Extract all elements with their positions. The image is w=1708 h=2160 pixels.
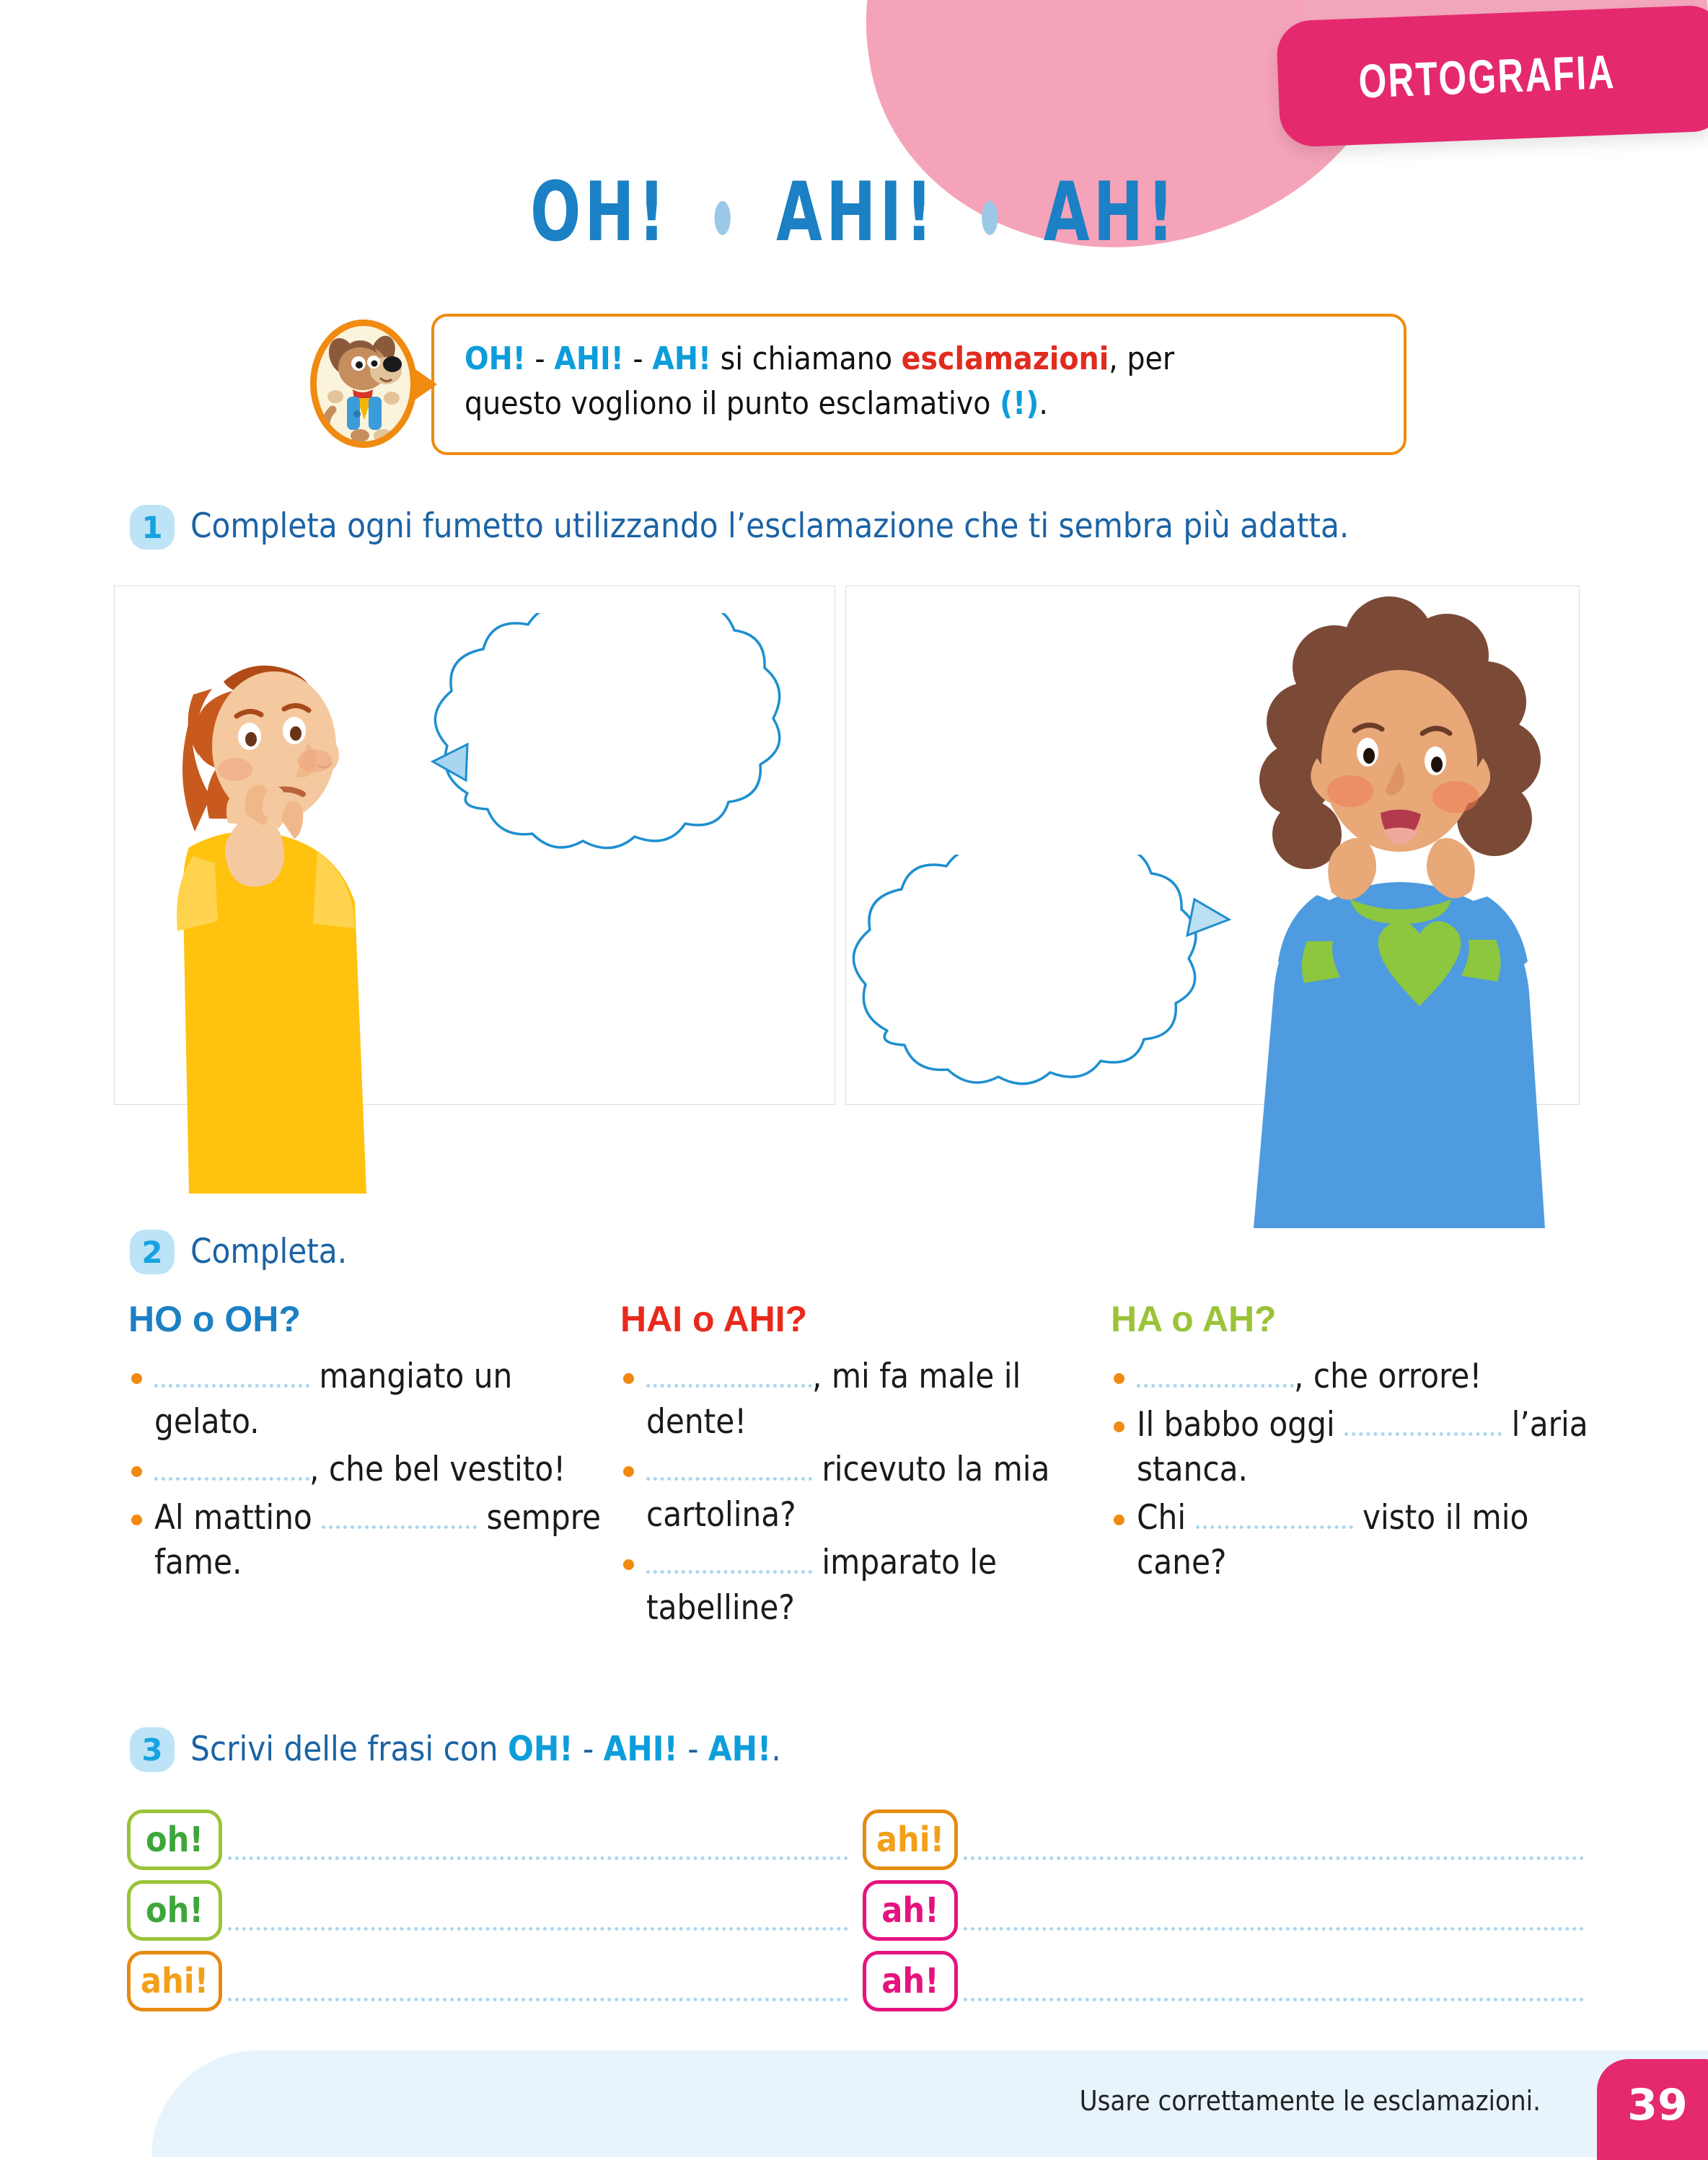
callout-text-1: si chiamano [711,340,902,377]
boy-thinking-illustration [101,602,411,1194]
exclamation-tag-ahi: ahi! [863,1809,958,1870]
instruction-sep-1: - [573,1729,604,1769]
completion-list: , mi fa male il dente! ricevuto la mia c… [620,1354,1096,1631]
writing-line[interactable] [964,1985,1584,2001]
writing-line[interactable] [964,1915,1584,1931]
list-item[interactable]: ricevuto la mia cartolina? [620,1447,1096,1538]
empty-thought-bubble-right[interactable] [837,855,1241,1143]
list-item[interactable]: Al mattino sempre fame. [128,1496,604,1586]
list-item[interactable]: , mi fa male il dente! [620,1354,1096,1445]
exercise-1-number-badge: 1 [130,505,175,550]
item-after: , che orrore! [1294,1357,1482,1396]
section-tab-label: ORTOGRAFIA [1357,45,1616,109]
completion-list: mangiato un gelato. , che bel vestito! A… [128,1354,604,1586]
callout-exclamation-mark: (!) [1000,385,1039,422]
exercise-2-number-badge: 2 [130,1230,175,1274]
item-before: Al mattino [154,1498,322,1538]
writing-row: ahi! [127,1941,848,2011]
exclamation-tag-oh: oh! [127,1880,222,1941]
exclamation-tag-ah: ah! [863,1880,958,1941]
list-item[interactable]: , che bel vestito! [128,1447,604,1493]
exercise-2-header: 2 Completa. [130,1230,779,1274]
title-part-oh: OH! [530,164,669,260]
instruction-end: . [771,1729,780,1769]
writing-line[interactable] [228,1985,848,2001]
list-item[interactable]: imparato le tabelline? [620,1540,1096,1631]
column-title-hai-ahi: HAI o AHI? [620,1298,1096,1340]
column-title-ho-oh: HO o OH? [128,1298,604,1340]
blank-input[interactable] [154,1363,309,1388]
item-after: , che bel vestito! [309,1450,565,1489]
writing-row: oh! [127,1870,848,1941]
list-item[interactable]: Il babbo oggi l’aria stanca. [1111,1403,1601,1493]
completion-column-ho-oh: HO o OH? mangiato un gelato. , che bel v… [128,1298,604,1589]
title-separator-dot-icon [982,200,998,234]
exercise-1-header: 1 Completa ogni fumetto utilizzando l’es… [130,505,1544,550]
writing-row: ah! [863,1870,1584,1941]
completion-list: , che orrore! Il babbo oggi l’aria stanc… [1111,1354,1601,1586]
exclamation-tag-oh: oh! [127,1809,222,1870]
blank-input[interactable] [322,1504,477,1529]
title-part-ahi: AHI! [776,164,936,260]
exercise-3-instruction: Scrivi delle frasi con OH! - AHI! - AH!. [190,1728,781,1771]
callout-ah: AH! [652,340,711,377]
writing-row: ah! [863,1941,1584,2011]
blank-input[interactable] [646,1549,812,1574]
girl-surprised-illustration [1226,581,1572,1230]
blank-input[interactable] [1137,1363,1294,1388]
instruction-ah: AH! [708,1729,771,1769]
exercise-3-header: 3 Scrivi delle frasi con OH! - AHI! - AH… [130,1727,1140,1772]
callout-keyword: esclamazioni [902,340,1109,377]
exercise-2-instruction: Completa. [190,1230,347,1274]
writing-line[interactable] [964,1844,1584,1860]
callout-sep-1: - [526,340,554,377]
writing-rows-left: oh! oh! ahi! [127,1799,848,2011]
writing-row: ahi! [863,1799,1584,1870]
title-separator-dot-icon [715,200,731,234]
instruction-sep-2: - [678,1729,708,1769]
exercise-1-instruction: Completa ogni fumetto utilizzando l’escl… [190,505,1349,548]
blank-input[interactable] [1344,1411,1502,1436]
callout-sep-2: - [624,340,652,377]
exercise-3-number-badge: 3 [130,1727,175,1772]
callout-text-2-end: . [1039,385,1048,422]
callout-text-1-end: , per [1109,340,1174,377]
instruction-oh: OH! [508,1729,573,1769]
callout-ahi: AHI! [554,340,624,377]
item-before: Chi [1137,1498,1196,1538]
blank-input[interactable] [646,1456,812,1481]
writing-line[interactable] [228,1844,848,1860]
exclamation-tag-ahi: ahi! [127,1951,222,2011]
title-part-ah: AH! [1044,164,1178,260]
blank-input[interactable] [646,1363,812,1388]
callout-text-2: questo vogliono il punto esclamativo [465,385,1000,422]
callout-line-2: questo vogliono il punto esclamativo (!)… [465,382,1375,426]
empty-thought-bubble-left[interactable] [426,613,837,909]
callout-line-1: OH! - AHI! - AH! si chiamano esclamazion… [465,337,1375,382]
page-number-badge: 39 [1597,2059,1708,2160]
blank-input[interactable] [154,1456,309,1481]
completion-column-ha-ah: HA o AH? , che orrore! Il babbo oggi l’a… [1111,1298,1601,1589]
callout-box: OH! - AHI! - AH! si chiamano esclamazion… [431,314,1407,455]
instruction-ahi: AHI! [604,1729,678,1769]
page-title: OH! AHI! AH! [120,164,1588,260]
list-item[interactable]: mangiato un gelato. [128,1354,604,1445]
instruction-pre: Scrivi delle frasi con [190,1729,508,1769]
column-title-ha-ah: HA o AH? [1111,1298,1601,1340]
exclamation-tag-ah: ah! [863,1951,958,2011]
completion-column-hai-ahi: HAI o AHI? , mi fa male il dente! ricevu… [620,1298,1096,1634]
info-callout: OH! - AHI! - AH! si chiamano esclamazion… [310,314,1407,465]
writing-row: oh! [127,1799,848,1870]
footer-objective-note: Usare correttamente le esclamazioni. [1080,2085,1541,2117]
list-item[interactable]: Chi visto il mio cane? [1111,1496,1601,1586]
dog-mascot-icon [310,319,417,448]
writing-line[interactable] [228,1915,848,1931]
blank-input[interactable] [1196,1504,1353,1529]
callout-oh: OH! [465,340,526,377]
writing-rows-right: ahi! ah! ah! [863,1799,1584,2011]
section-tab-ortografia: ORTOGRAFIA [1276,4,1708,148]
list-item[interactable]: , che orrore! [1111,1354,1601,1400]
item-before: Il babbo oggi [1137,1405,1344,1445]
